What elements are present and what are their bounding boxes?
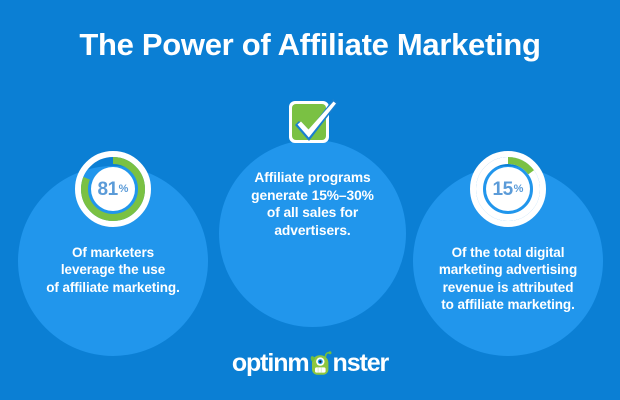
green-checkbox-icon	[285, 95, 341, 151]
donut-chart-icon-81: 81%	[74, 150, 152, 228]
stat-description: Of marketers leverage the use of affilia…	[8, 244, 218, 296]
brand-logo: optinm	[0, 348, 620, 378]
monster-mascot-icon	[309, 351, 333, 377]
brand-logo-text-part1: optinm	[232, 351, 309, 376]
stat-description: Affiliate programs generate 15%–30% of a…	[210, 169, 415, 240]
donut-chart-icon-15: 15%	[469, 150, 547, 228]
donut-percent-sign: %	[119, 184, 129, 195]
stat-description: Of the total digital marketing advertisi…	[403, 244, 613, 313]
infographic-canvas: The Power of Affiliate Marketing 81% Of …	[0, 0, 620, 400]
donut-label: 15%	[469, 150, 547, 228]
stat-panel-affiliate-programs: Affiliate programs generate 15%–30% of a…	[210, 95, 415, 240]
page-title: The Power of Affiliate Marketing	[0, 28, 620, 62]
stat-panel-digital-revenue: 15% Of the total digital marketing adver…	[403, 150, 613, 313]
donut-percent-sign: %	[514, 184, 524, 195]
brand-logo-inner: optinm	[232, 348, 388, 378]
donut-value: 81	[98, 180, 118, 199]
stat-panel-marketers: 81% Of marketers leverage the use of aff…	[8, 150, 218, 296]
donut-value: 15	[493, 180, 513, 199]
brand-logo-text-part2: nster	[333, 351, 389, 376]
donut-label: 81%	[74, 150, 152, 228]
